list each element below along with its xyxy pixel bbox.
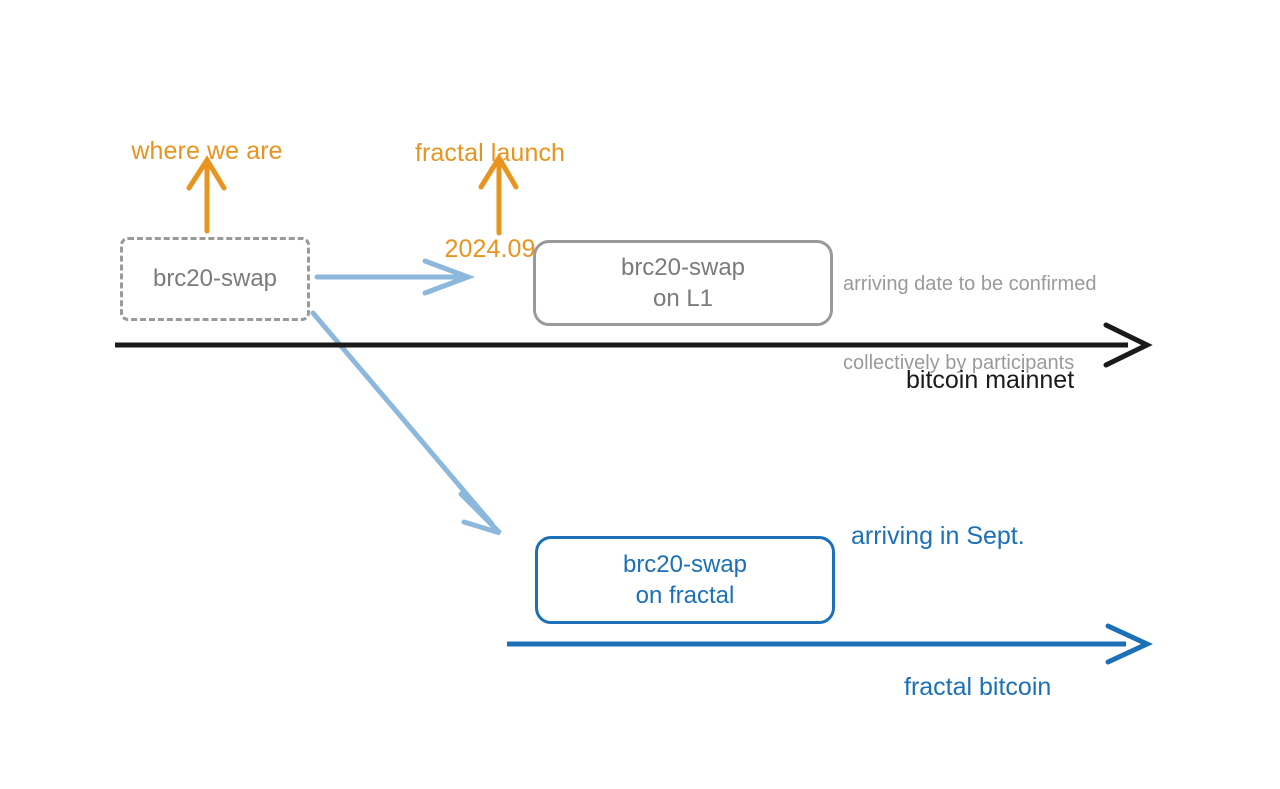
fractal-bitcoin-timeline-axis — [507, 626, 1147, 662]
node-brc20-swap-on-l1[interactable]: brc20-swap on L1 — [533, 240, 833, 326]
milestone-title: where we are — [131, 135, 282, 167]
node-label-line-2: on L1 — [653, 283, 713, 314]
axis-label-bitcoin-mainnet: bitcoin mainnet — [906, 364, 1074, 396]
node-brc20-swap-on-fractal[interactable]: brc20-swap on fractal — [535, 536, 835, 624]
note-fractal-arriving-sept: arriving in Sept. — [851, 520, 1025, 552]
node-label-line-1: brc20-swap — [153, 263, 277, 294]
node-label-line-2: on fractal — [636, 580, 735, 611]
milestone-title: fractal launch — [415, 137, 565, 169]
node-brc20-swap-current[interactable]: brc20-swap — [120, 237, 310, 321]
node-label-line-1: brc20-swap — [623, 549, 747, 580]
axis-label-fractal-bitcoin: fractal bitcoin — [904, 671, 1051, 703]
node-label-line-1: brc20-swap — [621, 252, 745, 283]
note-l1-arriving-date: arriving date to be confirmed collective… — [843, 218, 1096, 429]
transition-arrow-to-fractal-icon — [313, 313, 500, 533]
diagram-canvas: where we are 2024.07 fractal launch 2024… — [0, 0, 1280, 789]
note-line-1: arriving date to be confirmed — [843, 271, 1096, 297]
